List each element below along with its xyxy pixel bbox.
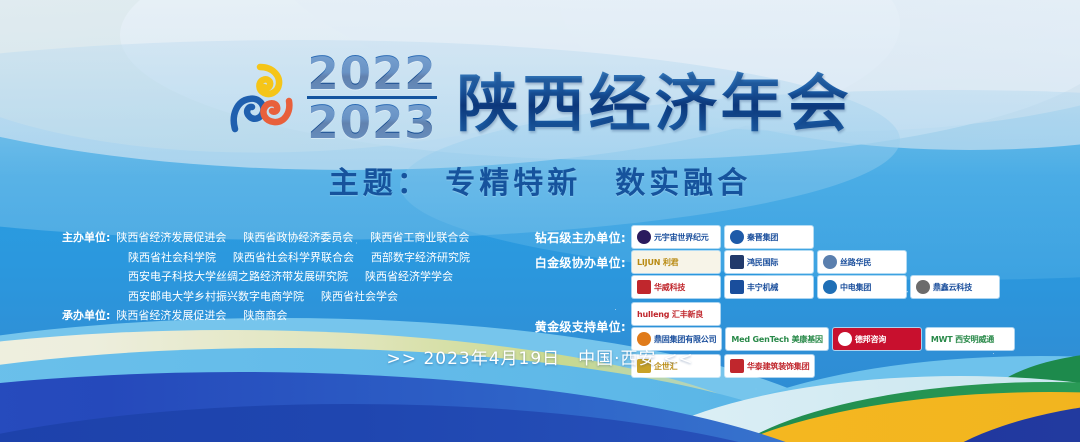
host-org: 陕西省社会学会	[321, 287, 398, 307]
sponsor-logo[interactable]: 鸿民国际	[725, 251, 813, 273]
sponsor-logo-label: 丝路华民	[840, 257, 871, 268]
flame-mark-icon	[637, 280, 651, 294]
sponsor-tier-platinum: 白金级协办单位: LIJUN 利君 鸿民国际 丝路华民	[522, 251, 1070, 273]
galaxy-mark-icon	[637, 230, 651, 244]
mountain-mark-icon	[730, 230, 744, 244]
host-org: 陕西省社会科学界联合会	[233, 248, 354, 268]
seal-mark-icon	[916, 280, 930, 294]
host-row-2: 陕西省社会科学院 陕西省社会科学界联合会 西部数字经济研究院	[62, 248, 512, 268]
sponsor-logo[interactable]: LIJUN 利君	[632, 251, 720, 273]
box-mark-icon	[823, 280, 837, 294]
three-swirl-logo-icon	[227, 61, 293, 135]
conference-poster: 2022 2023 陕西经济年会 主题： 专精特新 数实融合 主办单位: 陕西省…	[0, 0, 1080, 442]
host-org: 陕西省社会科学院	[128, 248, 216, 268]
sponsor-logo-label: 鸿民国际	[747, 257, 778, 268]
sponsor-logo-label: 德邦咨询	[855, 334, 886, 345]
sponsor-logo[interactable]: 丰宁机械	[725, 276, 813, 298]
sponsor-logo-label: LIJUN 利君	[637, 257, 678, 268]
arch-mark-icon	[730, 255, 744, 269]
fn-mark-icon	[730, 280, 744, 294]
host-row-4: 西安邮电大学乡村振兴数字电商学院 陕西省社会学会	[62, 287, 512, 307]
sponsor-logo[interactable]: 华威科技	[632, 276, 720, 298]
host-org: 陕西省政协经济委员会	[243, 228, 353, 248]
undertaker-org: 陕西省经济发展促进会	[116, 306, 226, 326]
page-title: 陕西经济年会	[457, 53, 853, 143]
title-row: 2022 2023 陕西经济年会	[0, 52, 1080, 144]
sponsor-tier-label: 黄金级支持单位:	[522, 318, 632, 335]
sponsor-logo-label: 鼎固集团有限公司	[654, 334, 716, 345]
year-top: 2022	[307, 53, 436, 99]
host-row-1: 主办单位: 陕西省经济发展促进会 陕西省政协经济委员会 陕西省工商业联合会	[62, 228, 512, 248]
sponsor-logo-label: 丰宁机械	[747, 282, 778, 293]
sponsor-tier-label: 白金级协办单位:	[522, 254, 632, 271]
host-org: 西安邮电大学乡村振兴数字电商学院	[128, 287, 304, 307]
sponsor-logo-label: 中电集团	[840, 282, 871, 293]
event-date-location: >> 2023年4月19日 中国·西安 <<	[0, 344, 1080, 369]
sponsor-tier-label: 钻石级主办单位:	[522, 229, 632, 246]
sponsor-logo-label: 华威科技	[654, 282, 685, 293]
sponsor-logo[interactable]: 鼎鑫云科技	[911, 276, 999, 298]
sponsor-tier-diamond: 钻石级主办单位: 元宇宙世界纪元 秦晋集团	[522, 226, 1070, 248]
sponsor-logo-label: 秦晋集团	[747, 232, 778, 243]
theme-line: 主题： 专精特新 数实融合	[0, 158, 1080, 202]
sponsor-logo[interactable]: 秦晋集团	[725, 226, 813, 248]
undertaker-org: 陕商商会	[243, 306, 287, 326]
sponsor-logo-label: MWT 西安明威通	[931, 334, 994, 345]
sponsor-logo-label: Med GenTech 美康基因	[731, 334, 822, 345]
sponsor-logo[interactable]: hulleng 汇丰新良	[632, 303, 720, 325]
sponsor-logo[interactable]: 中电集团	[818, 276, 906, 298]
host-org: 陕西省工商业联合会	[370, 228, 469, 248]
host-row-3: 西安电子科技大学丝绸之路经济带发展研究院 陕西省经济学学会	[62, 267, 512, 287]
seal-mark-icon	[823, 255, 837, 269]
sponsor-logo[interactable]: 丝路华民	[818, 251, 906, 273]
sponsor-logo[interactable]: 元宇宙世界纪元	[632, 226, 720, 248]
host-label: 主办单位:	[62, 228, 110, 248]
undertaker-row: 承办单位: 陕西省经济发展促进会 陕商商会	[62, 306, 512, 326]
host-org: 西部数字经济研究院	[371, 248, 470, 268]
sponsor-logo-label: 鼎鑫云科技	[933, 282, 972, 293]
host-org: 陕西省经济发展促进会	[116, 228, 226, 248]
host-org: 西安电子科技大学丝绸之路经济带发展研究院	[128, 267, 348, 287]
organizers-block: 主办单位: 陕西省经济发展促进会 陕西省政协经济委员会 陕西省工商业联合会 陕西…	[62, 228, 512, 326]
year-range: 2022 2023	[307, 53, 436, 144]
undertaker-label: 承办单位:	[62, 306, 110, 326]
sponsor-logo-label: 元宇宙世界纪元	[654, 232, 709, 243]
host-org: 陕西省经济学学会	[365, 267, 453, 287]
year-bottom: 2023	[307, 99, 436, 143]
sponsor-logo-label: hulleng 汇丰新良	[637, 309, 703, 320]
gold-logo-row-1: 华威科技 丰宁机械 中电集团 鼎鑫云科技	[632, 276, 1070, 325]
